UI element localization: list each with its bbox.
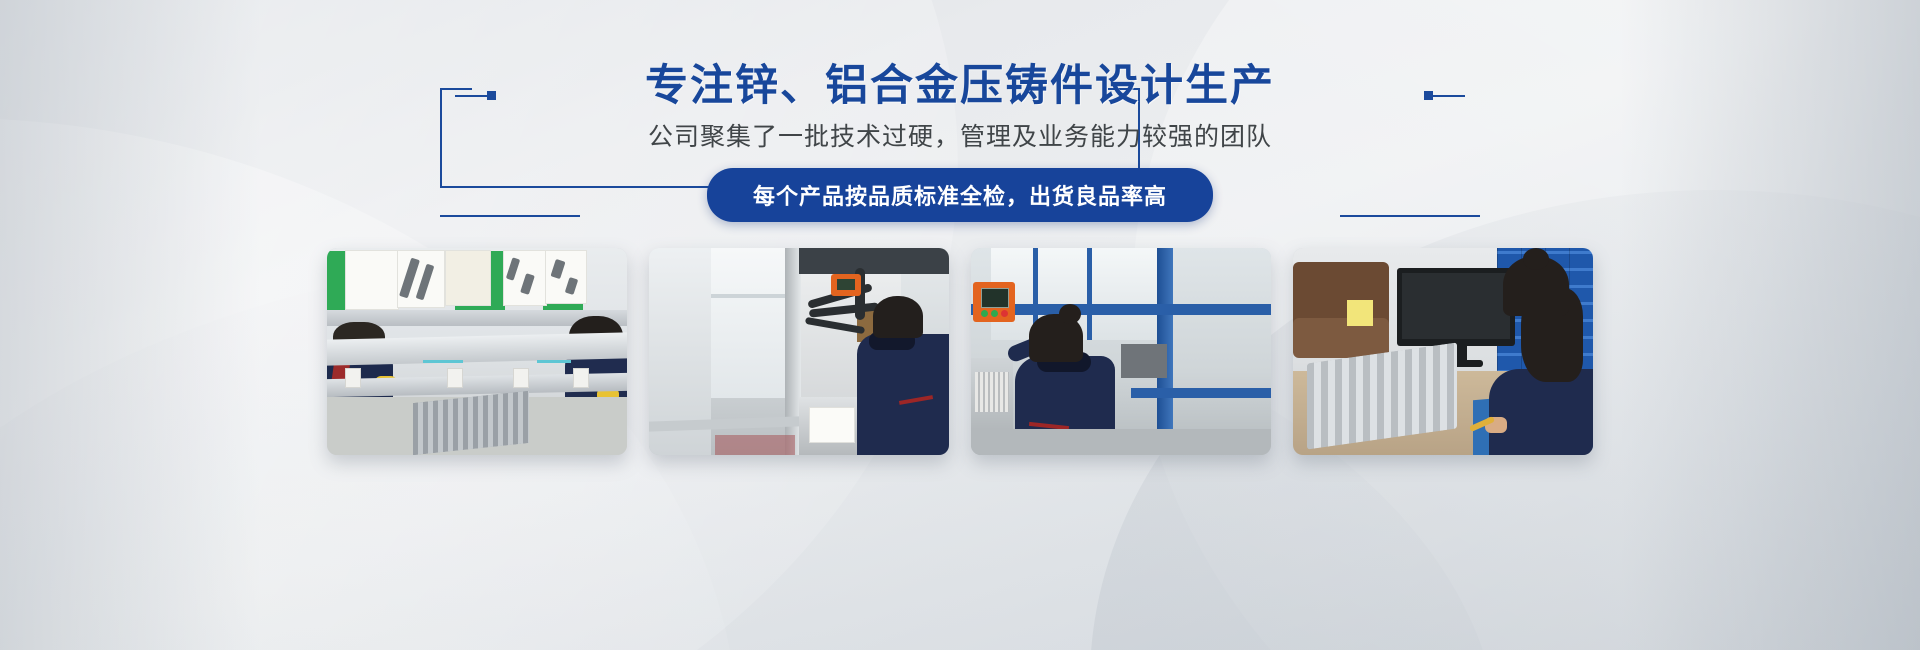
photo-3-image <box>971 248 1271 455</box>
promo-banner: 专注锌、铝合金压铸件设计生产 公司聚集了一批技术过硬，管理及业务能力较强的团队 … <box>0 0 1920 650</box>
photo-card-4[interactable] <box>1293 248 1593 455</box>
decorative-rule-left <box>440 215 580 217</box>
page-subtitle: 公司聚集了一批技术过硬，管理及业务能力较强的团队 <box>0 120 1920 155</box>
page-title: 专注锌、铝合金压铸件设计生产 <box>0 62 1920 111</box>
headline-block: 专注锌、铝合金压铸件设计生产 公司聚集了一批技术过硬，管理及业务能力较强的团队 … <box>0 0 1920 240</box>
photo-1-image <box>327 248 627 455</box>
photo-card-3[interactable] <box>971 248 1271 455</box>
photo-gallery <box>0 248 1920 458</box>
photo-2-image <box>649 248 949 455</box>
photo-card-1[interactable] <box>327 248 627 455</box>
photo-card-2[interactable] <box>649 248 949 455</box>
photo-4-image <box>1293 248 1593 455</box>
quality-badge: 每个产品按品质标准全检，出货良品率高 <box>707 168 1213 222</box>
decorative-rule-right <box>1340 215 1480 217</box>
